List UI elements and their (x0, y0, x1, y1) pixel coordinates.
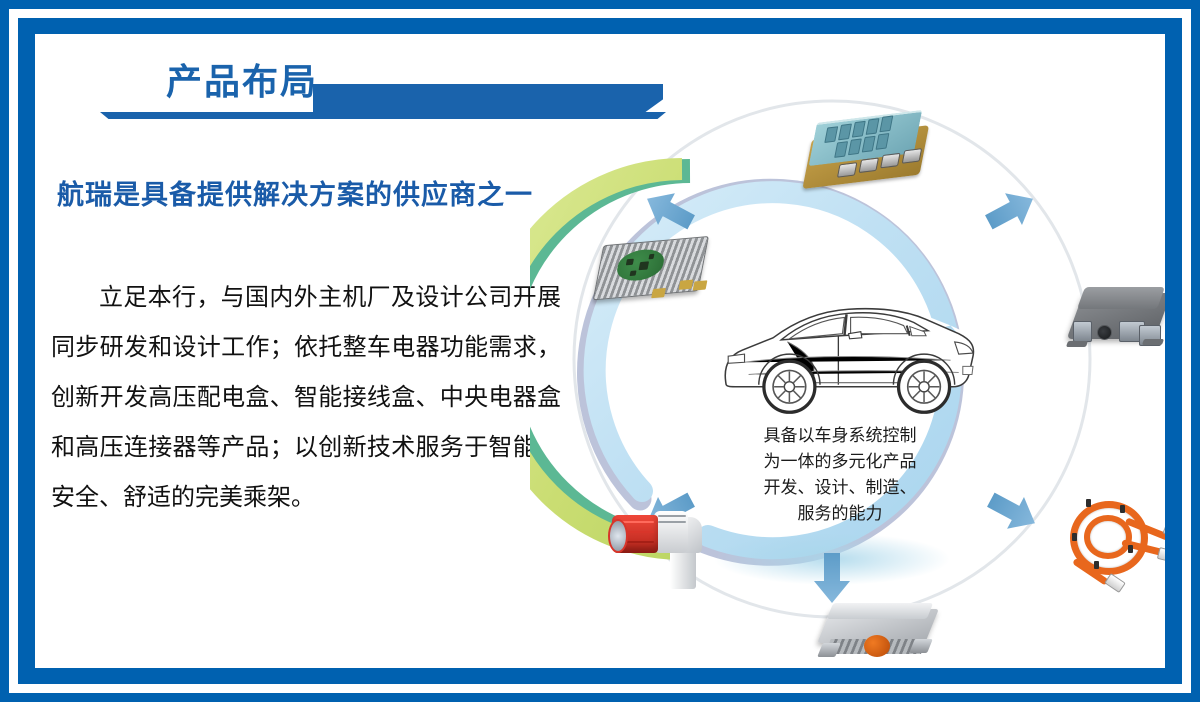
product-image-top (798, 103, 935, 198)
product-image-bottom (812, 599, 954, 668)
product-image-upper-left (588, 222, 717, 318)
center-caption-line-3: 开发、设计、制造、 (690, 475, 990, 501)
subtitle: 航瑞是具备提供解决方案的供应商之一 (57, 173, 533, 212)
product-image-lower-right (1060, 487, 1165, 591)
product-image-right (1057, 281, 1165, 373)
center-caption-line-1: 具备以车身系统控制 (690, 423, 990, 449)
center-caption: 具备以车身系统控制 为一体的多元化产品 开发、设计、制造、 服务的能力 (690, 423, 990, 527)
car-illustration (724, 307, 980, 412)
arrow-upper-right (980, 183, 1041, 238)
arrow-lower-right (982, 484, 1043, 539)
center-caption-line-4: 服务的能力 (690, 501, 990, 527)
center-caption-line-2: 为一体的多元化产品 (690, 449, 990, 475)
body-paragraph: 立足本行，与国内外主机厂及设计公司开展同步研发和设计工作；依托整车电器功能需求，… (51, 272, 561, 522)
slide-canvas: 产品布局 航瑞是具备提供解决方案的供应商之一 立足本行，与国内外主机厂及设计公司… (35, 34, 1165, 668)
page-title: 产品布局 (166, 57, 318, 109)
product-layout-diagram: 具备以车身系统控制 为一体的多元化产品 开发、设计、制造、 服务的能力 (530, 59, 1130, 668)
slide: 产品布局 航瑞是具备提供解决方案的供应商之一 立足本行，与国内外主机厂及设计公司… (0, 0, 1200, 702)
